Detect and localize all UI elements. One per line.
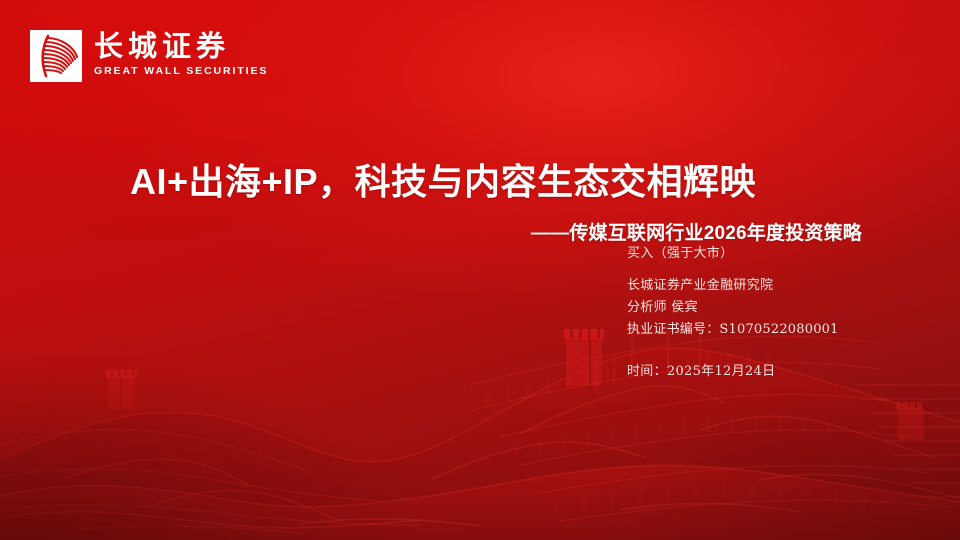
rating-badge: 买入（强于大市） [627,247,839,260]
page-subtitle: ——传媒互联网行业2026年度投资策略 [130,218,862,245]
great-wall-fan-mark-icon [30,30,82,82]
organization-label: 长城证券产业金融研究院 [627,279,839,292]
brand-name-en: GREAT WALL SECURITIES [94,65,268,77]
great-wall-rampart-watermark [0,325,960,540]
brand-name-cn: 长城证券 [94,31,268,62]
title-slide: 长城证券 GREAT WALL SECURITIES AI+出海+IP，科技与内… [0,0,960,540]
license-number: 执业证书编号：S1070522080001 [627,323,839,336]
brand-logo: 长城证券 GREAT WALL SECURITIES [30,30,268,82]
page-title: AI+出海+IP，科技与内容生态交相辉映 [130,162,836,202]
great-wall-watermark [0,310,960,540]
watchtower-icon-2 [564,329,604,388]
analyst-label: 分析师 侯宾 [627,301,839,314]
watchtower-icon-3 [896,402,924,440]
report-date: 时间：2025年12月24日 [627,360,775,379]
report-meta: 买入（强于大市） 长城证券产业金融研究院 分析师 侯宾 执业证书编号：S1070… [627,247,839,336]
watchtower-icon [106,370,137,410]
